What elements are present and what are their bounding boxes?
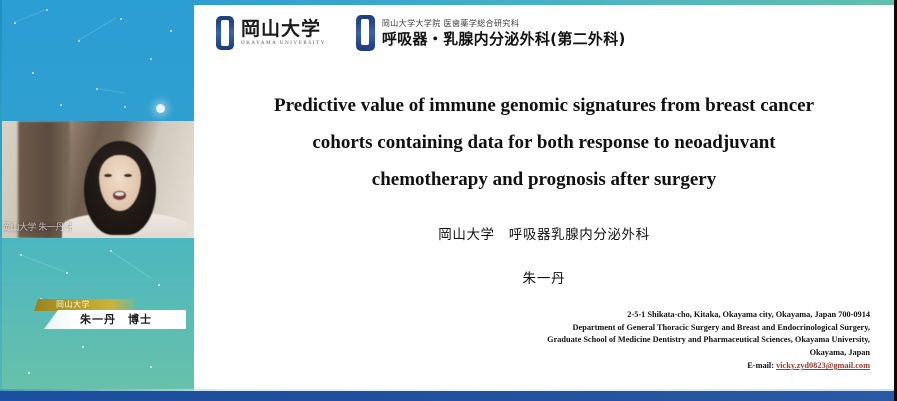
address-line-2: Department of General Thoracic Surgery a… [450,322,870,335]
okayama-university-logo: 岡山大学 OKAYAMA UNIVERSITY [216,16,326,50]
webcam-speaker-eye-right [124,174,132,177]
slide-presenter-name: 朱一丹 [234,267,854,287]
email-address-link[interactable]: vicky.zyd0823@gmail.com [776,361,870,370]
video-background-top [0,0,194,121]
department-logo-department-name: 呼吸器・乳腺内分泌外科(第二外科) [382,31,626,48]
left-edge-strip [0,0,2,401]
screen-share-stage: 岡山大学 朱一丹 朱 岡山大学 朱一丹 博士 [0,0,897,401]
email-label: E-mail: [747,361,776,370]
bottom-app-bar[interactable] [0,391,897,401]
address-line-3: Graduate School of Medicine Dentistry an… [450,334,870,347]
address-email-line: E-mail: vicky.zyd0823@gmail.com [450,360,870,373]
shared-slide[interactable]: 岡山大学 OKAYAMA UNIVERSITY 岡山大学大学院 医歯薬学総合研究… [194,5,894,391]
slide-address-block: 2-5-1 Shikata-cho, Kitaka, Okayama city,… [450,309,870,373]
address-line-1: 2-5-1 Shikata-cho, Kitaka, Okayama city,… [450,309,870,322]
webcam-speaker-teeth [115,192,124,196]
okayama-university-logo-english: OKAYAMA UNIVERSITY [241,41,326,46]
address-line-4: Okayama, Japan [450,347,870,360]
speaker-webcam-feed[interactable]: 岡山大学 朱一丹 朱 [0,121,194,238]
slide-title-line-1: Predictive value of immune genomic signa… [234,87,854,124]
department-logo-graduate-school: 岡山大学大学院 医歯薬学総合研究科 [382,18,626,29]
slide-logo-row: 岡山大学 OKAYAMA UNIVERSITY 岡山大学大学院 医歯薬学総合研究… [216,15,626,51]
webcam-name-caption: 岡山大学 朱一丹 朱 [0,221,72,235]
speaker-video-panel[interactable]: 岡山大学 朱一丹 朱 岡山大学 朱一丹 博士 [0,0,194,396]
slide-title: Predictive value of immune genomic signa… [234,87,854,198]
okayama-university-logo-text: 岡山大学 [241,20,326,40]
webcam-speaker-eye-left [104,174,112,177]
department-logo-mark-icon [356,15,375,51]
slide-title-line-3: chemotherapy and prognosis after surgery [234,161,854,198]
slide-affiliation: 岡山大学 呼吸器乳腺内分泌外科 [234,227,854,243]
lower-third-banner: 岡山大学 朱一丹 博士 [16,299,186,329]
slide-title-line-2: cohorts containing data for both respons… [234,124,854,161]
okayama-university-logo-mark-icon [216,16,234,50]
slide-author-block: 岡山大学 呼吸器乳腺内分泌外科 朱一丹 [234,227,854,287]
department-logo: 岡山大学大学院 医歯薬学総合研究科 呼吸器・乳腺内分泌外科(第二外科) [356,15,626,51]
video-light-dot [156,104,165,113]
lower-third-name: 朱一丹 博士 [80,310,152,329]
